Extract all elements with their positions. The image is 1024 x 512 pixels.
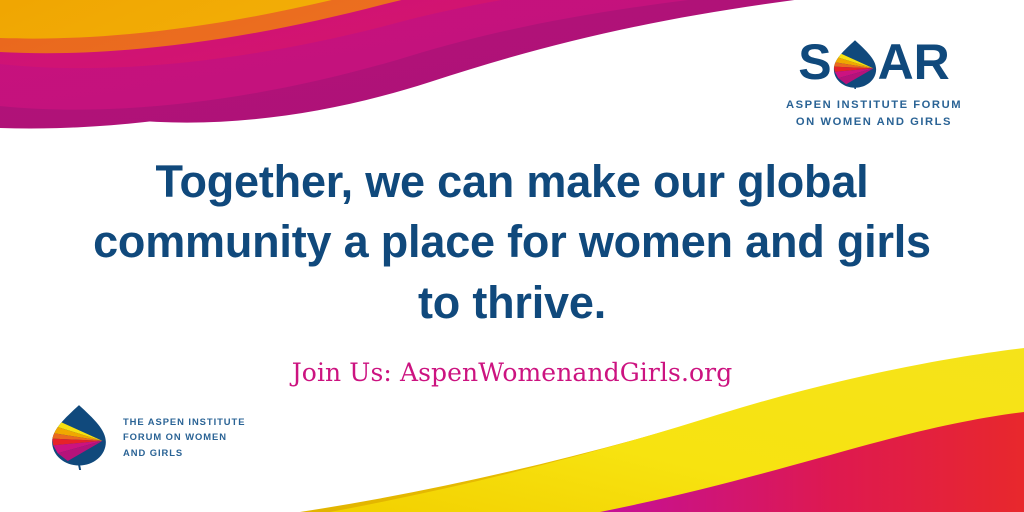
headline: Together, we can make our global communi…: [0, 152, 1024, 333]
join-us-cta[interactable]: Join Us: AspenWomenandGirls.org: [0, 358, 1024, 387]
headline-line-3: to thrive.: [0, 273, 1024, 333]
aspen-leaf-icon: [48, 404, 110, 470]
headline-line-1: Together, we can make our global: [0, 152, 1024, 212]
wave-gold: [0, 0, 1024, 39]
promo-graphic: S: [0, 0, 1024, 512]
institute-logo-text: THE ASPEN INSTITUTE FORUM ON WOMEN AND G…: [123, 414, 245, 461]
aspen-leaf-icon: [833, 39, 877, 89]
soar-subtitle-line-1: ASPEN INSTITUTE FORUM: [754, 97, 994, 114]
soar-logo: S: [754, 36, 994, 132]
soar-subtitle-line-2: ON WOMEN AND GIRLS: [754, 114, 994, 131]
cta-text[interactable]: Join Us: AspenWomenandGirls.org: [292, 358, 733, 387]
headline-line-2: community a place for women and girls: [0, 212, 1024, 272]
wave-magenta-red: [600, 412, 1024, 512]
soar-letter-s: S: [798, 37, 831, 87]
soar-wordmark: S: [754, 36, 994, 88]
soar-letters-ar: AR: [878, 37, 950, 87]
soar-subtitle: ASPEN INSTITUTE FORUM ON WOMEN AND GIRLS: [754, 97, 994, 132]
institute-line-3: AND GIRLS: [123, 445, 245, 461]
institute-line-2: FORUM ON WOMEN: [123, 429, 245, 445]
institute-line-1: THE ASPEN INSTITUTE: [123, 414, 245, 430]
aspen-institute-forum-logo: THE ASPEN INSTITUTE FORUM ON WOMEN AND G…: [48, 404, 245, 470]
